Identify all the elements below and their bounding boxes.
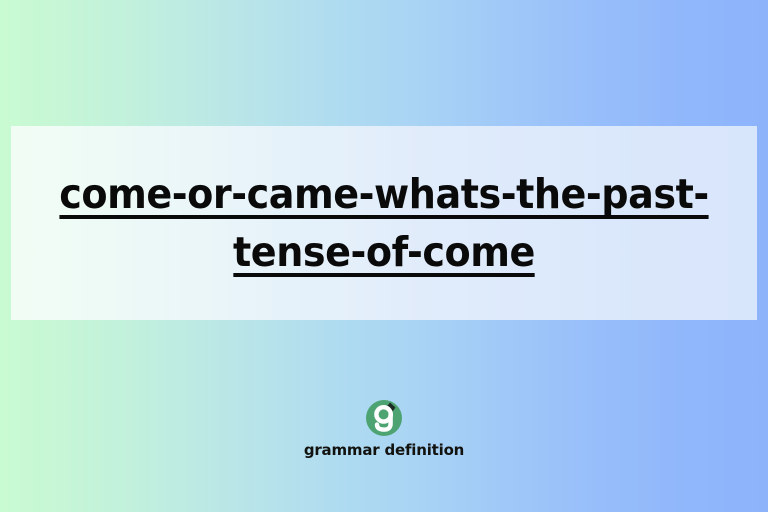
title-line-2-text: tense-of-come <box>233 233 535 277</box>
title-line-1-text: come-or-came-whats-the-past- <box>59 175 708 219</box>
slide-canvas: come-or-came-whats-the-past- tense-of-co… <box>0 0 768 512</box>
brand-logo: grammar definition <box>0 398 768 459</box>
title-card: come-or-came-whats-the-past- tense-of-co… <box>11 126 757 320</box>
grammar-definition-g-icon <box>364 398 404 438</box>
title-line-1: come-or-came-whats-the-past- <box>45 165 724 223</box>
title-block: come-or-came-whats-the-past- tense-of-co… <box>11 165 757 281</box>
brand-name: grammar definition <box>304 441 464 459</box>
title-line-2: tense-of-come <box>45 223 724 281</box>
